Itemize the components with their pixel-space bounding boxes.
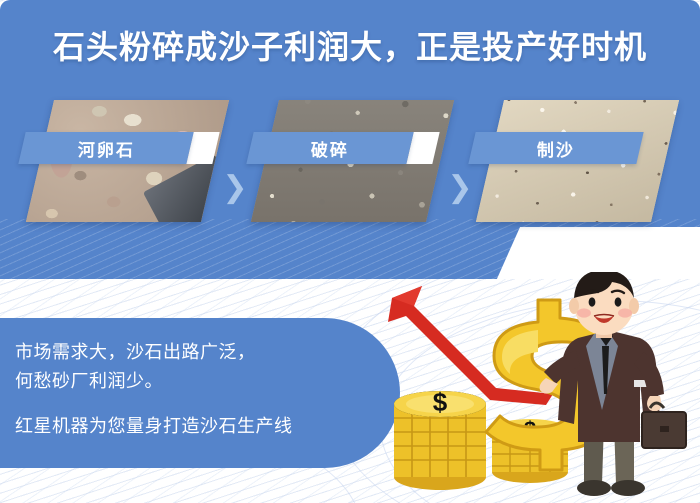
promo-tagline: 红星机器为您量身打造沙石生产线 [15, 412, 400, 441]
process-step-label-3: 制沙 [468, 132, 643, 164]
gold-coin-stack: $ [394, 387, 486, 490]
chevron-right-icon-2: ❯ [443, 173, 477, 203]
process-step-label-2-text: 破碎 [311, 136, 349, 161]
process-step-label-1: 河卵石 [18, 132, 193, 164]
profit-illustration: $ $ [378, 272, 700, 503]
svg-text:$: $ [433, 387, 448, 417]
chevron-right-icon-1: ❯ [218, 173, 252, 203]
promo-line-1: 市场需求大，沙石出路广泛， [15, 338, 400, 367]
promo-line-2: 何愁砂厂利润少。 [15, 367, 400, 396]
header-sheen [0, 219, 700, 279]
promo-banner: 石头粉碎成沙子利润大，正是投产好时机 河卵石 ❯ 破碎 ❯ 制沙 市场需求大，沙… [0, 0, 700, 503]
promo-copy: 市场需求大，沙石出路广泛， 何愁砂厂利润少。 红星机器为您量身打造沙石生产线 [0, 318, 400, 468]
illustration-svg: $ $ [378, 272, 700, 503]
process-step-label-1-text: 河卵石 [78, 136, 135, 161]
page-title: 石头粉碎成沙子利润大，正是投产好时机 [0, 22, 700, 68]
process-step-label-2: 破碎 [246, 132, 413, 164]
process-step-label-3-text: 制沙 [537, 136, 575, 161]
